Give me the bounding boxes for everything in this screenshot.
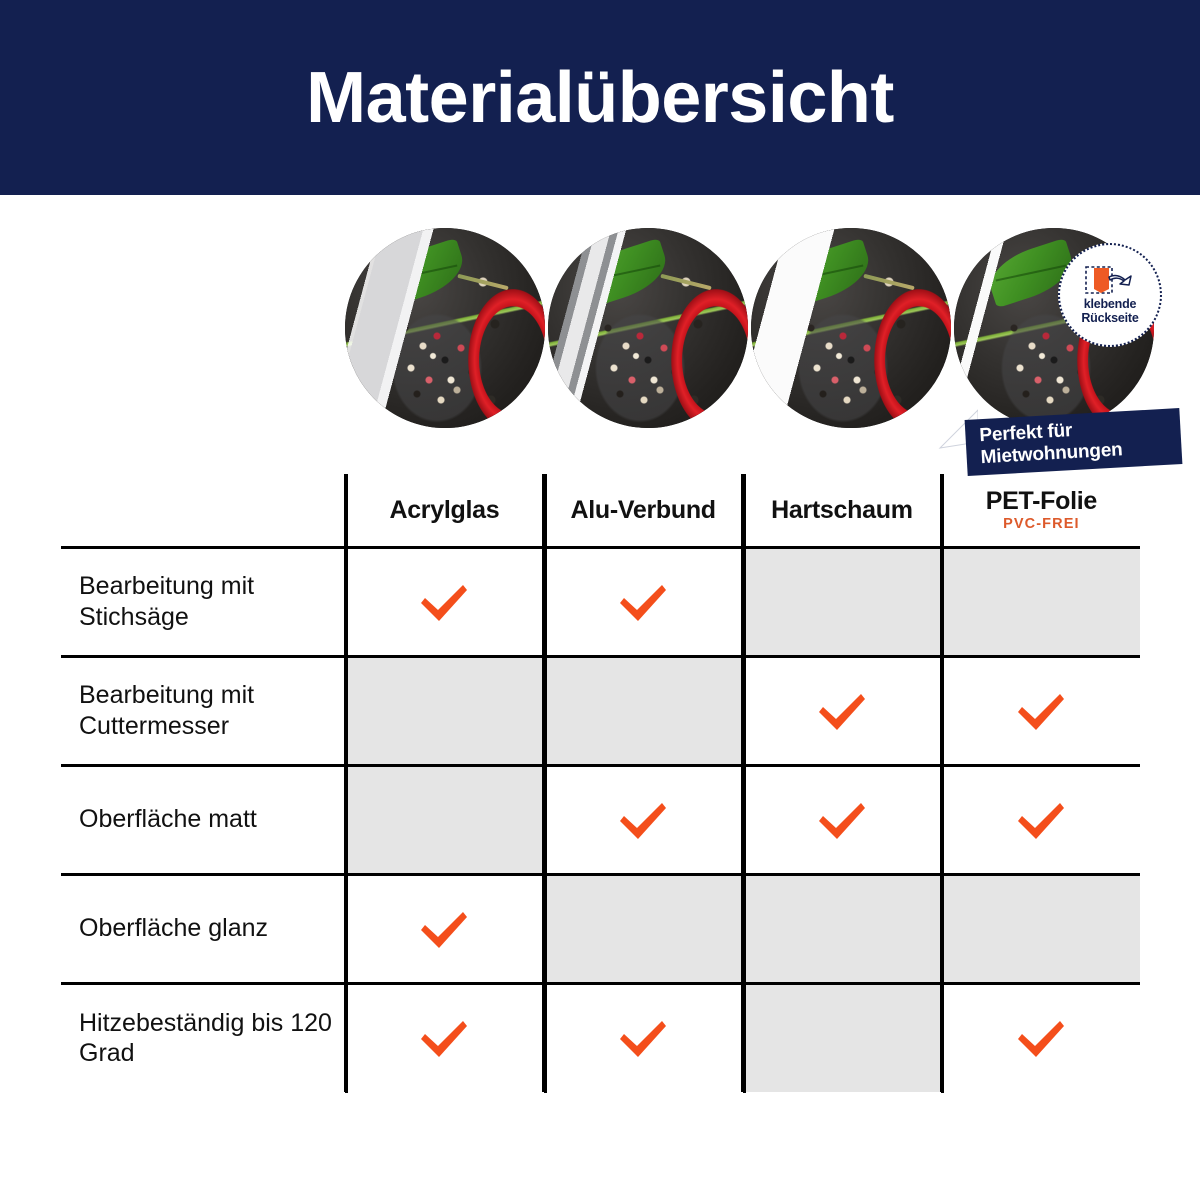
peel-sticker-icon xyxy=(1084,265,1136,295)
row-label-header xyxy=(61,474,345,547)
cell-empty xyxy=(941,547,1140,656)
cell-empty xyxy=(941,874,1140,983)
cell-empty xyxy=(544,874,743,983)
cell-check xyxy=(743,656,942,765)
cell-check xyxy=(544,547,743,656)
column-title: Acrylglas xyxy=(347,497,543,523)
check-icon xyxy=(814,689,870,733)
cell-check xyxy=(544,765,743,874)
cell-check xyxy=(345,983,544,1092)
table-row: Hitzebeständig bis 120 Grad xyxy=(61,983,1140,1092)
table-row: Bearbeitung mit Cuttermesser xyxy=(61,656,1140,765)
cell-empty xyxy=(743,874,942,983)
row-label: Bearbeitung mit Cuttermesser xyxy=(61,656,345,765)
column-header-hartschaum: Hartschaum xyxy=(743,474,942,547)
check-icon xyxy=(416,580,472,624)
cell-check xyxy=(941,983,1140,1092)
table-body: Bearbeitung mit StichsägeBearbeitung mit… xyxy=(61,547,1140,1092)
column-title: Alu-Verbund xyxy=(545,497,741,523)
acrylglas-thumbnail xyxy=(345,228,545,428)
check-icon xyxy=(615,580,671,624)
cell-empty xyxy=(345,656,544,765)
column-divider-4 xyxy=(941,474,944,1093)
column-title: PET-Folie xyxy=(943,488,1140,514)
table-row: Bearbeitung mit Stichsäge xyxy=(61,547,1140,656)
badge-line-1: klebende xyxy=(1081,297,1138,311)
check-icon xyxy=(615,798,671,842)
cell-empty xyxy=(743,983,942,1092)
perfekt-fuer-mietwohnungen-ribbon: Perfekt für Mietwohnungen xyxy=(965,408,1183,476)
row-label: Oberfläche matt xyxy=(61,765,345,874)
cell-empty xyxy=(345,765,544,874)
table-header-row: Acrylglas Alu-Verbund Hartschaum PET-Fol… xyxy=(61,474,1140,547)
column-divider-3 xyxy=(743,474,746,1093)
cell-check xyxy=(743,765,942,874)
cell-empty xyxy=(743,547,942,656)
column-divider-1 xyxy=(345,474,348,1093)
check-icon xyxy=(416,1016,472,1060)
klebende-rueckseite-badge: klebende Rückseite xyxy=(1058,243,1162,347)
column-subtitle-pvc-frei: PVC-FREI xyxy=(943,516,1140,532)
check-icon xyxy=(615,1016,671,1060)
cell-check xyxy=(345,874,544,983)
row-label: Oberfläche glanz xyxy=(61,874,345,983)
cell-check xyxy=(941,656,1140,765)
hartschaum-thumbnail xyxy=(751,228,951,428)
column-header-pet-folie: PET-Folie PVC-FREI xyxy=(941,474,1140,547)
cell-check xyxy=(544,983,743,1092)
material-comparison-table: Acrylglas Alu-Verbund Hartschaum PET-Fol… xyxy=(61,474,1140,1093)
page-title: Materialübersicht xyxy=(306,62,894,134)
row-label: Hitzebeständig bis 120 Grad xyxy=(61,983,345,1092)
table-row: Oberfläche matt xyxy=(61,765,1140,874)
comparison-grid: Acrylglas Alu-Verbund Hartschaum PET-Fol… xyxy=(61,474,1140,1092)
check-icon xyxy=(1013,1016,1069,1060)
check-icon xyxy=(416,907,472,951)
check-icon xyxy=(1013,798,1069,842)
row-label: Bearbeitung mit Stichsäge xyxy=(61,547,345,656)
check-icon xyxy=(1013,689,1069,733)
header-banner: Materialübersicht xyxy=(0,0,1200,195)
cell-empty xyxy=(544,656,743,765)
table-row: Oberfläche glanz xyxy=(61,874,1140,983)
alu-verbund-thumbnail xyxy=(548,228,748,428)
column-header-acrylglas: Acrylglas xyxy=(345,474,544,547)
badge-line-2: Rückseite xyxy=(1081,311,1138,325)
column-divider-2 xyxy=(544,474,547,1093)
cell-check xyxy=(941,765,1140,874)
material-overview-infographic: Materialübersicht xyxy=(0,0,1200,1200)
cell-check xyxy=(345,547,544,656)
check-icon xyxy=(814,798,870,842)
product-thumbnail-row xyxy=(0,228,1200,428)
column-header-alu-verbund: Alu-Verbund xyxy=(544,474,743,547)
column-title: Hartschaum xyxy=(744,497,940,523)
